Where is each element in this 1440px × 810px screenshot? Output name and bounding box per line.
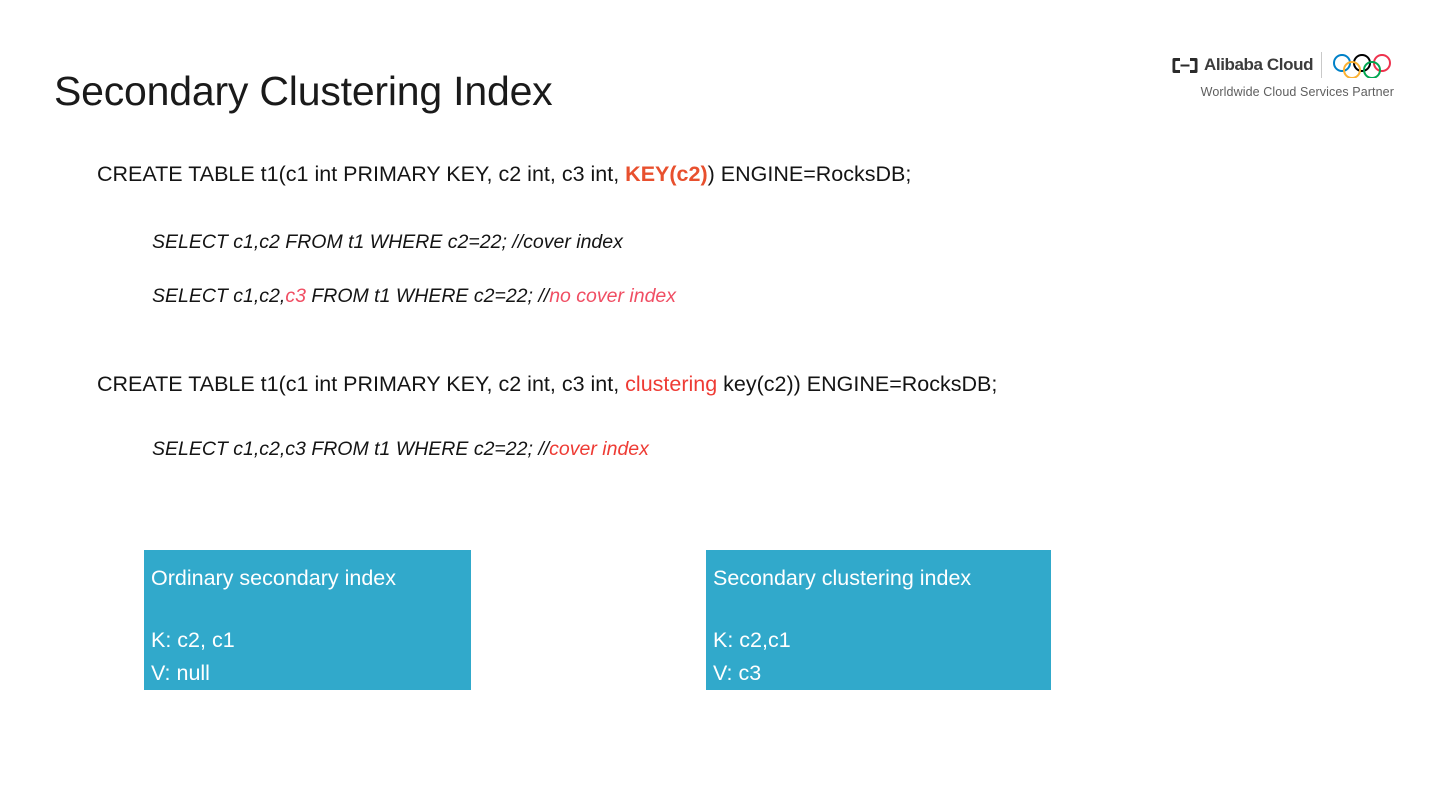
select-3-part1: SELECT c1,c2,c3 FROM t1 WHERE c2=22; // xyxy=(152,438,549,460)
logo-wordmark: Alibaba Cloud xyxy=(1204,55,1313,75)
ordinary-index-heading: Ordinary secondary index xyxy=(151,564,471,592)
secondary-clustering-index-box: Secondary clustering index K: c2,c1 V: c… xyxy=(706,550,1051,690)
create-2-highlight-clustering: clustering xyxy=(625,372,717,396)
ordinary-index-key-line: K: c2, c1 xyxy=(151,624,471,657)
page-title: Secondary Clustering Index xyxy=(54,66,552,116)
create-table-statement-2: CREATE TABLE t1(c1 int PRIMARY KEY, c2 i… xyxy=(97,370,997,398)
select-3-highlight-comment: cover index xyxy=(549,438,649,460)
select-2-highlight-c3: c3 xyxy=(285,285,306,307)
box-spacer xyxy=(151,592,471,624)
select-statement-3: SELECT c1,c2,c3 FROM t1 WHERE c2=22; //c… xyxy=(152,435,649,463)
ordinary-secondary-index-box: Ordinary secondary index K: c2, c1 V: nu… xyxy=(144,550,471,690)
select-statement-2: SELECT c1,c2,c3 FROM t1 WHERE c2=22; //n… xyxy=(152,282,676,310)
select-2-part2: FROM t1 WHERE c2=22; // xyxy=(306,285,549,307)
olympic-rings-icon xyxy=(1331,53,1393,78)
logo-divider xyxy=(1321,52,1322,78)
select-2-highlight-comment: no cover index xyxy=(549,285,676,307)
create-1-part1: CREATE TABLE t1(c1 int PRIMARY KEY, c2 i… xyxy=(97,162,625,186)
clustering-index-value-line: V: c3 xyxy=(713,657,1051,690)
box-spacer xyxy=(713,592,1051,624)
create-1-highlight-key: KEY(c2) xyxy=(625,162,707,186)
logo-row: Alibaba Cloud xyxy=(1172,52,1394,78)
ordinary-index-value-line: V: null xyxy=(151,657,471,690)
alibaba-cloud-mark-icon xyxy=(1172,57,1198,74)
create-2-part2: key(c2)) ENGINE=RocksDB; xyxy=(717,372,997,396)
select-statement-1: SELECT c1,c2 FROM t1 WHERE c2=22; //cove… xyxy=(152,228,623,256)
create-2-part1: CREATE TABLE t1(c1 int PRIMARY KEY, c2 i… xyxy=(97,372,625,396)
create-table-statement-1: CREATE TABLE t1(c1 int PRIMARY KEY, c2 i… xyxy=(97,160,911,188)
clustering-index-heading: Secondary clustering index xyxy=(713,564,1051,592)
select-2-part1: SELECT c1,c2, xyxy=(152,285,285,307)
alibaba-cloud-logo: Alibaba Cloud Worldwide Cloud Services P… xyxy=(1172,52,1394,108)
logo-tagline: Worldwide Cloud Services Partner xyxy=(1172,85,1394,99)
clustering-index-key-line: K: c2,c1 xyxy=(713,624,1051,657)
create-1-part2: ) ENGINE=RocksDB; xyxy=(708,162,912,186)
